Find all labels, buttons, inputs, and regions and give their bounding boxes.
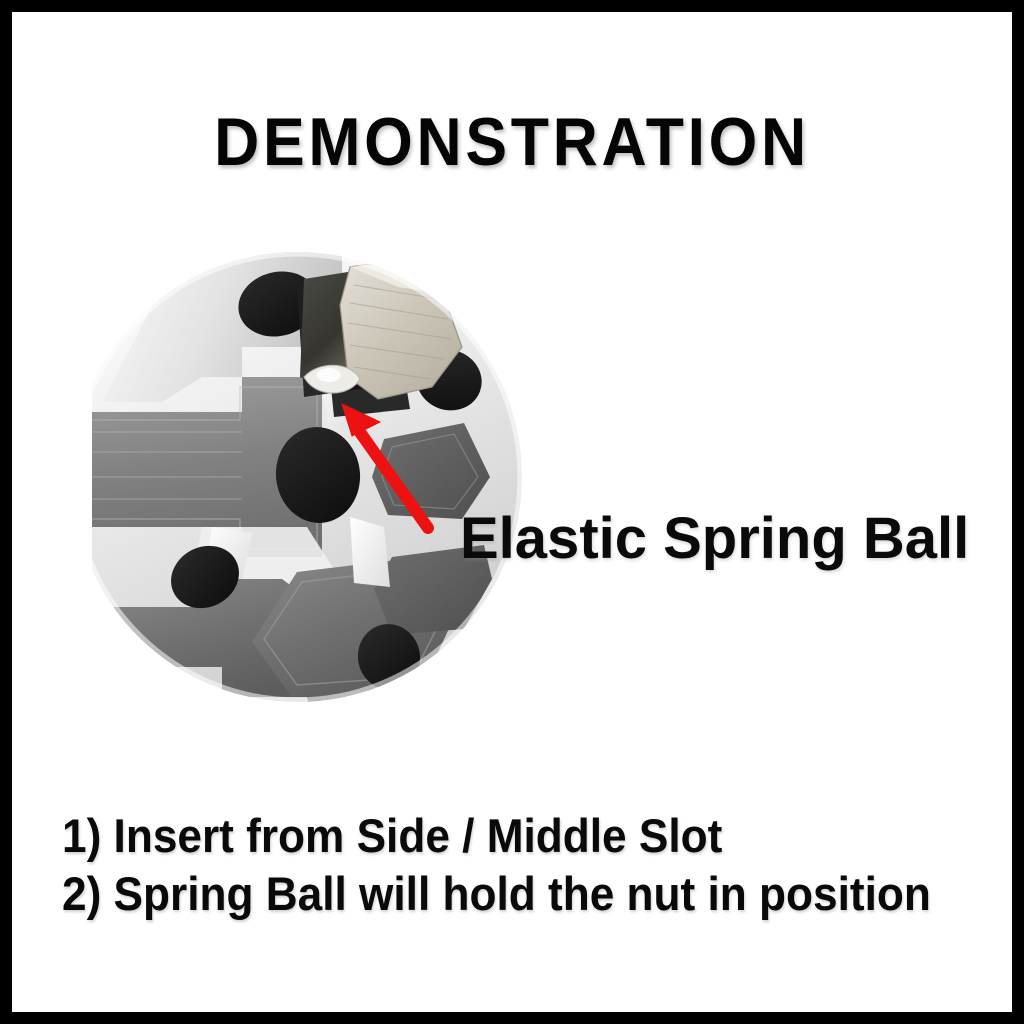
white-canvas: DEMONSTRATION <box>12 12 1012 1012</box>
rib-center <box>350 517 390 587</box>
extrusion-photo <box>92 227 562 727</box>
page-title: DEMONSTRATION <box>52 108 972 176</box>
callout-label: Elastic Spring Ball <box>460 510 969 568</box>
instruction-step-1: 1) Insert from Side / Middle Slot <box>62 807 936 865</box>
instruction-steps: 1) Insert from Side / Middle Slot 2) Spr… <box>62 807 992 923</box>
instruction-step-2: 2) Spring Ball will hold the nut in posi… <box>62 865 936 923</box>
extrusion-body <box>92 235 522 727</box>
demonstration-graphic: DEMONSTRATION <box>0 0 1024 1024</box>
spring-ball-highlight <box>317 368 341 382</box>
